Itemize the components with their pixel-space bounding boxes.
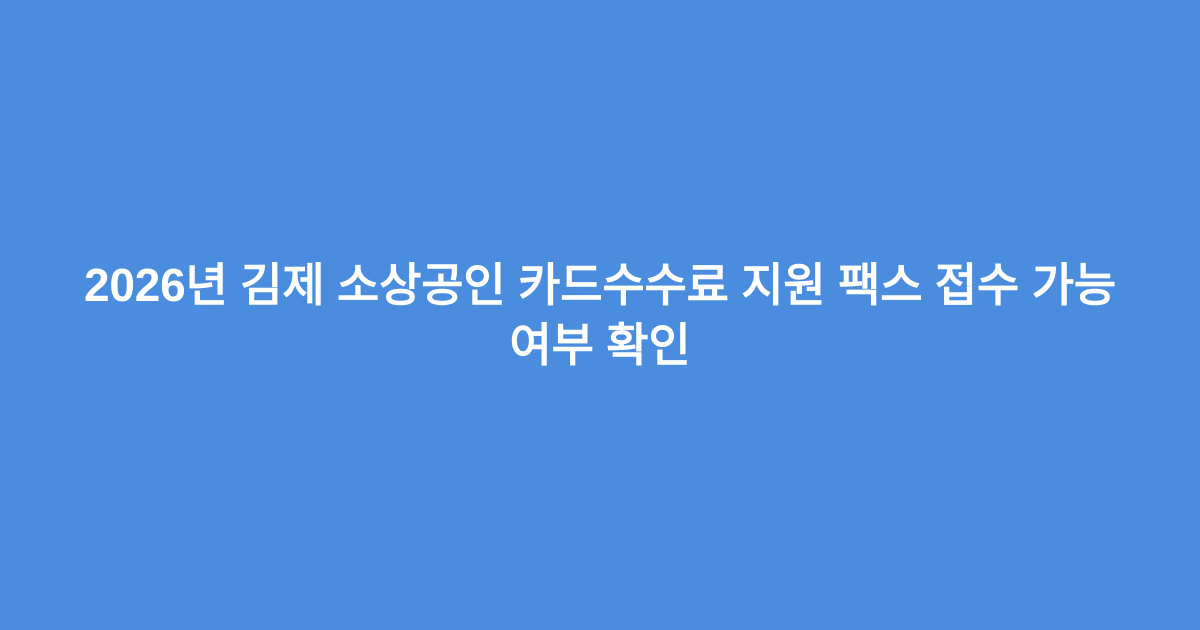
title-block: 2026년 김제 소상공인 카드수수료 지원 팩스 접수 가능 여부 확인 [0,255,1200,375]
page-title: 2026년 김제 소상공인 카드수수료 지원 팩스 접수 가능 여부 확인 [60,255,1140,375]
og-share-card: 2026년 김제 소상공인 카드수수료 지원 팩스 접수 가능 여부 확인 [0,0,1200,630]
